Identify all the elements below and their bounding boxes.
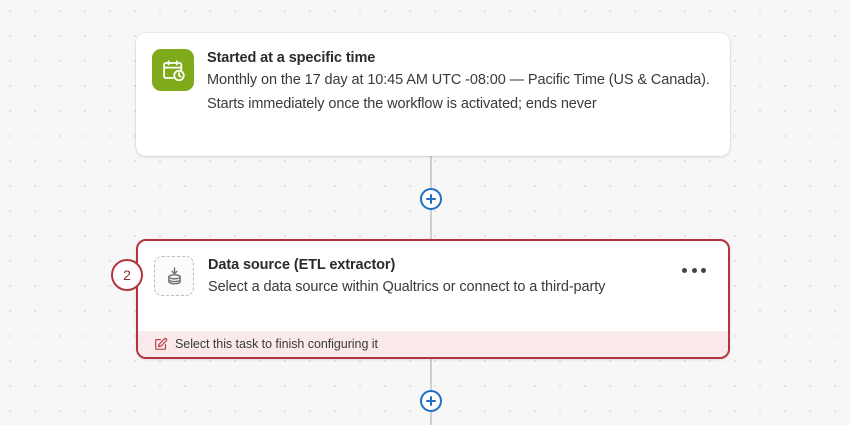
workflow-node-data-source[interactable]: Data source (ETL extractor) Select a dat…: [136, 239, 730, 359]
add-step-button-after-trigger[interactable]: [420, 188, 442, 210]
workflow-canvas[interactable]: Started at a specific time Monthly on th…: [0, 0, 850, 425]
trigger-description: Monthly on the 17 day at 10:45 AM UTC -0…: [207, 69, 712, 116]
kebab-dot: [692, 268, 697, 273]
step-number-badge: 2: [111, 259, 143, 291]
task-text-block: Data source (ETL extractor) Select a dat…: [208, 256, 712, 300]
task-description: Select a data source within Qualtrics or…: [208, 276, 638, 300]
edit-pencil-icon: [154, 337, 168, 351]
kebab-dot: [682, 268, 687, 273]
task-warning-footer: Select this task to finish configuring i…: [138, 331, 728, 357]
calendar-clock-icon: [152, 49, 194, 91]
kebab-menu-icon[interactable]: [682, 268, 706, 273]
task-card-content: Data source (ETL extractor) Select a dat…: [138, 241, 728, 310]
add-step-button-after-task[interactable]: [420, 390, 442, 412]
task-warning-text: Select this task to finish configuring i…: [175, 337, 378, 351]
kebab-dot: [701, 268, 706, 273]
trigger-text-block: Started at a specific time Monthly on th…: [207, 49, 712, 116]
task-title: Data source (ETL extractor): [208, 256, 712, 275]
workflow-node-trigger[interactable]: Started at a specific time Monthly on th…: [136, 33, 730, 156]
trigger-card-content: Started at a specific time Monthly on th…: [152, 49, 712, 116]
database-download-icon: [154, 256, 194, 296]
trigger-title: Started at a specific time: [207, 49, 712, 68]
